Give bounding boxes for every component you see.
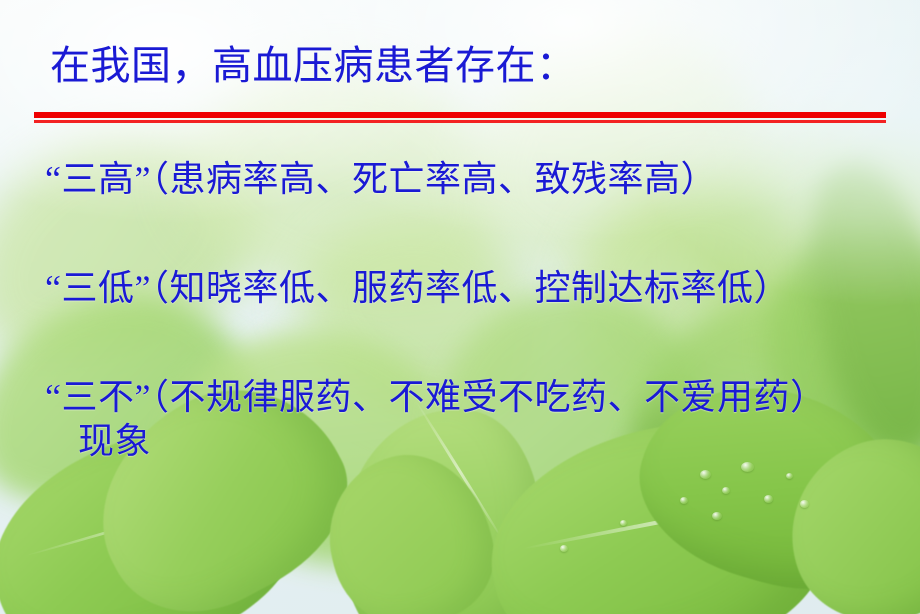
slide-content: 在我国，高血压病患者存在： “三高”（患病率高、死亡率高、致残率高） “三低”（… <box>0 0 920 614</box>
slide-title: 在我国，高血压病患者存在： <box>50 40 577 92</box>
bullet-three-not: “三不”（不规律服药、不难受不吃药、不爱用药） <box>45 374 826 420</box>
bullet-three-not-continuation: 现象 <box>78 418 151 464</box>
bullet-three-high: “三高”（患病率高、死亡率高、致残率高） <box>45 156 717 202</box>
bullet-three-low: “三低”（知晓率低、服药率低、控制达标率低） <box>45 265 790 311</box>
presentation-slide: 在我国，高血压病患者存在： “三高”（患病率高、死亡率高、致残率高） “三低”（… <box>0 0 920 614</box>
